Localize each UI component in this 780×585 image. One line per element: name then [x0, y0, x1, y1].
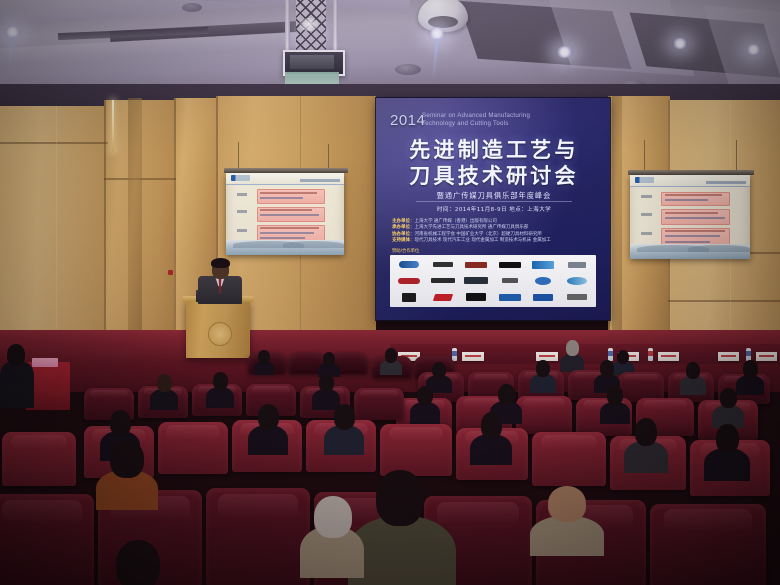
banner-year: 2014: [390, 112, 425, 129]
banner-divider: [416, 201, 572, 202]
attendee: [300, 496, 364, 576]
banner-title-line2: 刀具技术研讨会: [388, 160, 600, 190]
conference-hall-photo: 2014 Seminar on Advanced Manufacturing T…: [0, 0, 780, 585]
sponsor-logo: [561, 273, 594, 288]
attendee: [248, 404, 288, 452]
attendee: [470, 412, 512, 462]
organizer-row: 支持媒体：现代刀具技术 现代汽车工业 现代金属加工 制造技术与机床 金属加工: [392, 238, 598, 244]
sponsor-logo: [494, 257, 527, 272]
podium: [186, 300, 250, 358]
table-sign: [32, 358, 58, 367]
right-projection-screen: [628, 170, 754, 260]
attendee: [108, 540, 174, 585]
sponsor-logo: [527, 273, 560, 288]
water-bottle: [452, 348, 457, 361]
attendee: [348, 470, 456, 585]
sponsor-logo: [527, 257, 560, 272]
presenter: [196, 258, 244, 302]
sponsor-logo: [494, 273, 527, 288]
water-bottle: [648, 348, 653, 361]
slide-surface: [630, 175, 750, 259]
banner-organizer-list: 主办单位：上海大学 通广传媒（香港）出版有限公司 承办单位：上海大学先进工艺与刀…: [392, 219, 598, 245]
attendee: [254, 350, 274, 374]
sponsor-logo: [460, 273, 493, 288]
name-placard: [658, 352, 679, 361]
attendee: [0, 340, 34, 406]
attendee: [530, 486, 604, 552]
sponsor-logo: [460, 257, 493, 272]
banner-sponsor-label: 赞助/合作单位: [392, 248, 419, 254]
name-placard: [462, 352, 484, 361]
attendee: [410, 386, 440, 422]
attendee: [704, 424, 750, 478]
projector-drop-pole: [285, 0, 290, 50]
attendee: [206, 372, 234, 406]
attendee: [624, 418, 668, 470]
attendee: [530, 360, 556, 392]
attendee: [380, 348, 402, 374]
sponsor-logo-grid: [390, 255, 596, 307]
ceiling: [0, 0, 780, 96]
sponsor-logo: [527, 290, 560, 305]
attendee: [312, 374, 340, 408]
sponsor-logo: [460, 290, 493, 305]
attendee: [96, 440, 158, 506]
sponsor-logo: [561, 290, 594, 305]
sponsor-logo: [427, 273, 460, 288]
podium-emblem-icon: [208, 322, 232, 346]
attendee: [318, 352, 340, 376]
attendee: [680, 362, 706, 394]
sponsor-logo: [393, 257, 426, 272]
attendee: [324, 404, 364, 452]
sponsor-logo: [427, 290, 460, 305]
banner-english-title: Seminar on Advanced Manufacturing Techno…: [422, 112, 572, 129]
attendee: [560, 340, 584, 370]
sponsor-logo: [494, 290, 527, 305]
sponsor-logo: [427, 257, 460, 272]
banner-date-location: 时间：2014年11月8-9日 地点：上海大学: [388, 205, 600, 213]
stage-banner: 2014 Seminar on Advanced Manufacturing T…: [376, 98, 610, 320]
wall-panel-left: [0, 106, 108, 338]
left-projection-screen: [224, 168, 348, 258]
sponsor-logo: [393, 290, 426, 305]
attendee: [712, 388, 744, 426]
banner-subtitle: 暨通广传媒刀具俱乐部年度峰会: [388, 191, 600, 201]
slide-surface: [226, 173, 344, 255]
sponsor-logo: [393, 273, 426, 288]
sponsor-logo: [561, 257, 594, 272]
attendee: [600, 386, 630, 422]
attendee: [150, 374, 178, 408]
